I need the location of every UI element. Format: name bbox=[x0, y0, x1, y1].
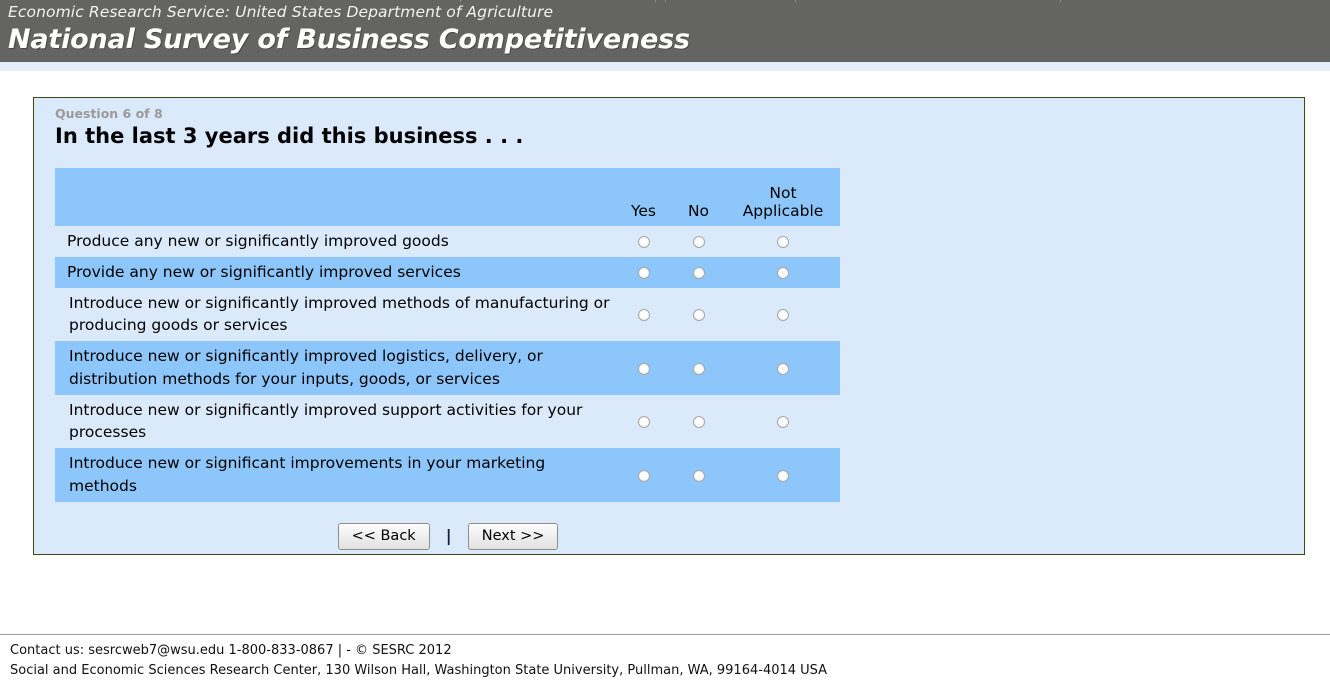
radio-yes[interactable] bbox=[638, 309, 650, 321]
radio-not-applicable[interactable] bbox=[777, 470, 789, 482]
matrix-cell-not-applicable[interactable] bbox=[726, 226, 840, 257]
radio-no[interactable] bbox=[693, 416, 705, 428]
table-row: Introduce new or significantly improved … bbox=[55, 288, 840, 342]
radio-not-applicable[interactable] bbox=[777, 363, 789, 375]
page-title: In the last 3 years did this business . … bbox=[55, 124, 523, 148]
matrix-cell-yes[interactable] bbox=[616, 257, 671, 288]
matrix-cell-not-applicable[interactable] bbox=[726, 341, 840, 395]
site-header: Economic Research Service: United States… bbox=[0, 0, 1330, 62]
radio-no[interactable] bbox=[693, 267, 705, 279]
column-header-not-applicable-line1: Not bbox=[769, 184, 796, 202]
matrix-item-label: Introduce new or significant improvement… bbox=[55, 448, 616, 502]
matrix-cell-not-applicable[interactable] bbox=[726, 288, 840, 342]
matrix-cell-yes[interactable] bbox=[616, 226, 671, 257]
agency-name: Economic Research Service: United States… bbox=[8, 3, 553, 21]
matrix-cell-no[interactable] bbox=[671, 226, 726, 257]
footer-contact-line: Contact us: sesrcweb7@wsu.edu 1-800-833-… bbox=[10, 641, 1320, 661]
next-button[interactable]: Next >> bbox=[468, 523, 559, 550]
matrix-header-row: Yes No Not Applicable bbox=[55, 168, 840, 226]
table-row: Introduce new or significantly improved … bbox=[55, 395, 840, 449]
matrix-cell-yes[interactable] bbox=[616, 341, 671, 395]
matrix-header-blank bbox=[55, 168, 616, 226]
radio-no[interactable] bbox=[693, 363, 705, 375]
matrix-cell-no[interactable] bbox=[671, 448, 726, 502]
question-counter: Question 6 of 8 bbox=[55, 106, 163, 121]
table-row: Produce any new or significantly improve… bbox=[55, 226, 840, 257]
back-button[interactable]: << Back bbox=[338, 523, 430, 550]
radio-yes[interactable] bbox=[638, 416, 650, 428]
column-header-not-applicable-line2: Applicable bbox=[743, 202, 824, 220]
question-panel: Question 6 of 8 In the last 3 years did … bbox=[33, 97, 1305, 555]
header-underline bbox=[0, 62, 1330, 71]
matrix-cell-not-applicable[interactable] bbox=[726, 257, 840, 288]
matrix-cell-yes[interactable] bbox=[616, 288, 671, 342]
matrix-item-label: Introduce new or significantly improved … bbox=[55, 395, 616, 449]
matrix-cell-yes[interactable] bbox=[616, 395, 671, 449]
matrix-cell-no[interactable] bbox=[671, 257, 726, 288]
matrix-cell-no[interactable] bbox=[671, 341, 726, 395]
radio-no[interactable] bbox=[693, 236, 705, 248]
matrix-item-label: Introduce new or significantly improved … bbox=[55, 288, 616, 342]
radio-not-applicable[interactable] bbox=[777, 267, 789, 279]
matrix-cell-no[interactable] bbox=[671, 288, 726, 342]
table-row: Introduce new or significant improvement… bbox=[55, 448, 840, 502]
footer-divider bbox=[0, 634, 1330, 635]
radio-not-applicable[interactable] bbox=[777, 236, 789, 248]
radio-yes[interactable] bbox=[638, 236, 650, 248]
radio-not-applicable[interactable] bbox=[777, 416, 789, 428]
column-header-yes: Yes bbox=[616, 168, 671, 226]
matrix-cell-yes[interactable] bbox=[616, 448, 671, 502]
nav-separator: | bbox=[446, 526, 452, 545]
header-top-ticks bbox=[0, 0, 1330, 2]
matrix-cell-not-applicable[interactable] bbox=[726, 395, 840, 449]
radio-yes[interactable] bbox=[638, 267, 650, 279]
radio-yes[interactable] bbox=[638, 470, 650, 482]
radio-yes[interactable] bbox=[638, 363, 650, 375]
radio-not-applicable[interactable] bbox=[777, 309, 789, 321]
matrix-item-label: Introduce new or significantly improved … bbox=[55, 341, 616, 395]
table-row: Provide any new or significantly improve… bbox=[55, 257, 840, 288]
footer-address-line: Social and Economic Sciences Research Ce… bbox=[10, 661, 1320, 681]
navigation-controls: << Back | Next >> bbox=[34, 523, 862, 550]
site-footer: Contact us: sesrcweb7@wsu.edu 1-800-833-… bbox=[10, 641, 1320, 681]
survey-title: National Survey of Business Competitiven… bbox=[8, 24, 690, 55]
matrix-item-label: Provide any new or significantly improve… bbox=[55, 257, 616, 288]
matrix-cell-not-applicable[interactable] bbox=[726, 448, 840, 502]
radio-no[interactable] bbox=[693, 470, 705, 482]
matrix-cell-no[interactable] bbox=[671, 395, 726, 449]
radio-no[interactable] bbox=[693, 309, 705, 321]
column-header-not-applicable: Not Applicable bbox=[726, 168, 840, 226]
response-matrix: Yes No Not Applicable Produce any new or… bbox=[55, 168, 840, 502]
table-row: Introduce new or significantly improved … bbox=[55, 341, 840, 395]
matrix-item-label: Produce any new or significantly improve… bbox=[55, 226, 616, 257]
column-header-no: No bbox=[671, 168, 726, 226]
